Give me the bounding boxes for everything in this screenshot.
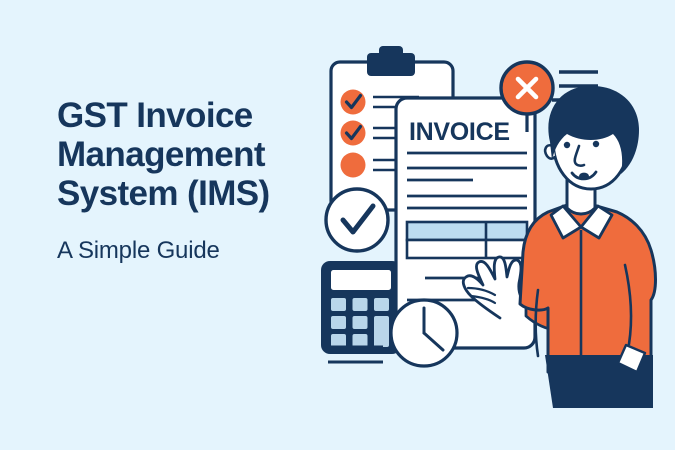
text-block: GST Invoice Management System (IMS) A Si… <box>57 96 327 265</box>
wall-clock-icon <box>391 300 457 366</box>
invoice-title: INVOICE <box>409 118 510 146</box>
invoice-title-label: INVOICE <box>0 0 1 1</box>
clock-time-label: 4:00 <box>0 0 1 1</box>
checklist-item-1-bullet <box>341 90 366 115</box>
approve-badge-icon <box>326 189 388 251</box>
person-eye-right <box>593 141 599 147</box>
calculator-display <box>331 270 391 290</box>
invoice-management-illustration: INVOICE <box>295 0 675 450</box>
page-title: GST Invoice Management System (IMS) <box>57 96 327 213</box>
page-subtitle: A Simple Guide <box>57 213 327 265</box>
calculator-icon <box>321 261 401 354</box>
person-eye-left <box>564 142 570 148</box>
illustration-svg: INVOICE <box>295 0 675 450</box>
banner: GST Invoice Management System (IMS) A Si… <box>0 0 675 450</box>
calculator-equals-button <box>374 316 389 347</box>
invoice-table <box>407 222 527 258</box>
checklist-item-3-bullet <box>341 153 366 178</box>
checklist-item-2-bullet <box>341 121 366 146</box>
